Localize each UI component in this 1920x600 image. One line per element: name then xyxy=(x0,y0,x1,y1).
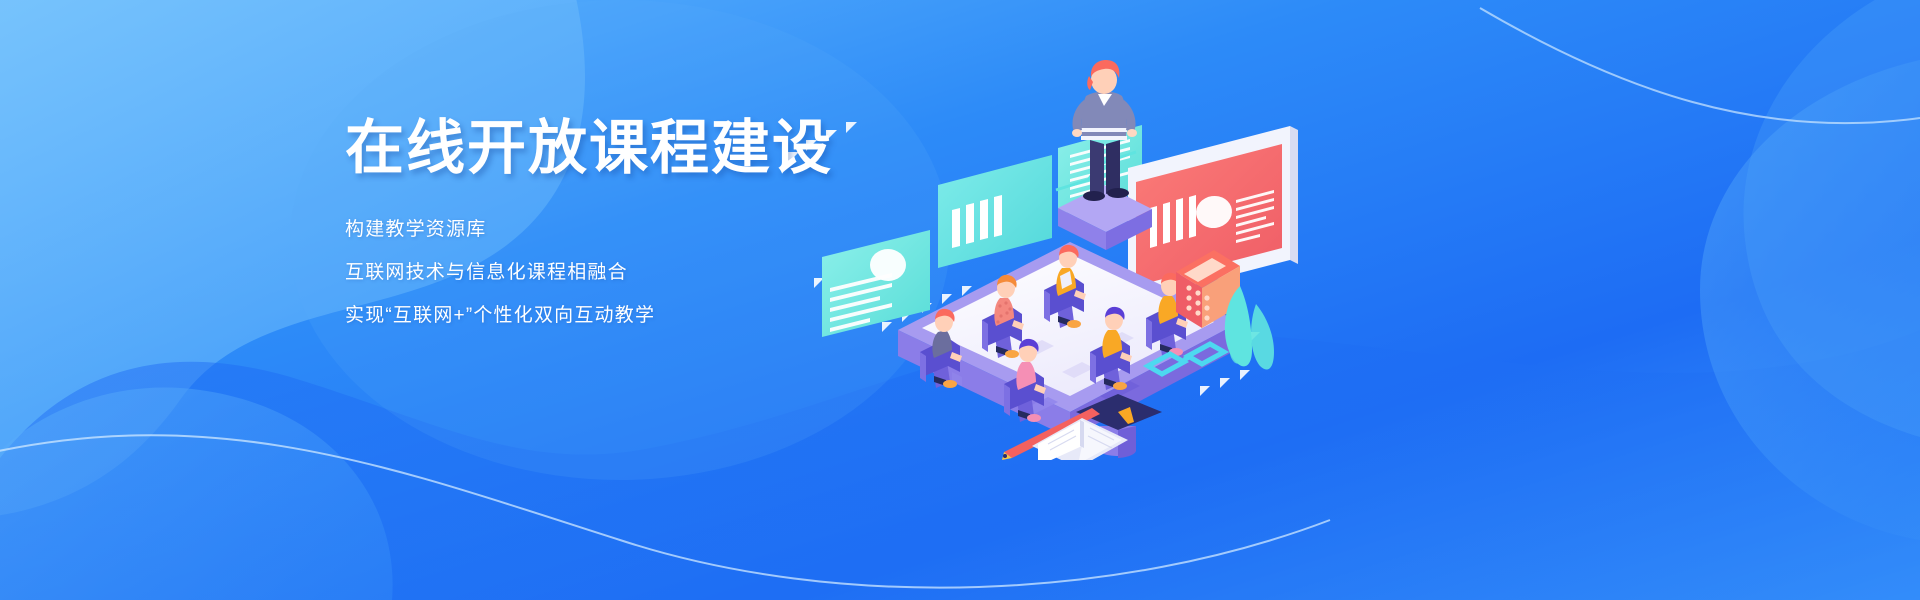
blob-right xyxy=(1700,60,1920,540)
subtitle-line-2: 互联网技术与信息化课程相融合 xyxy=(345,263,985,282)
potted-plant-leaves xyxy=(1225,286,1274,370)
page-title: 在线开放课程建设 xyxy=(345,118,985,180)
curve-line-top xyxy=(1480,8,1920,123)
subtitle-line-3: 实现“互联网+”个性化双向互动教学 xyxy=(345,306,985,325)
hero-banner: 在线开放课程建设 构建教学资源库 互联网技术与信息化课程相融合 实现“互联网+”… xyxy=(0,0,1920,600)
blob-far-right xyxy=(1744,0,1920,450)
banner-text-block: 在线开放课程建设 构建教学资源库 互联网技术与信息化课程相融合 实现“互联网+”… xyxy=(345,118,985,325)
blob-bottom-left xyxy=(0,387,393,600)
subtitle-line-1: 构建教学资源库 xyxy=(345,220,985,239)
